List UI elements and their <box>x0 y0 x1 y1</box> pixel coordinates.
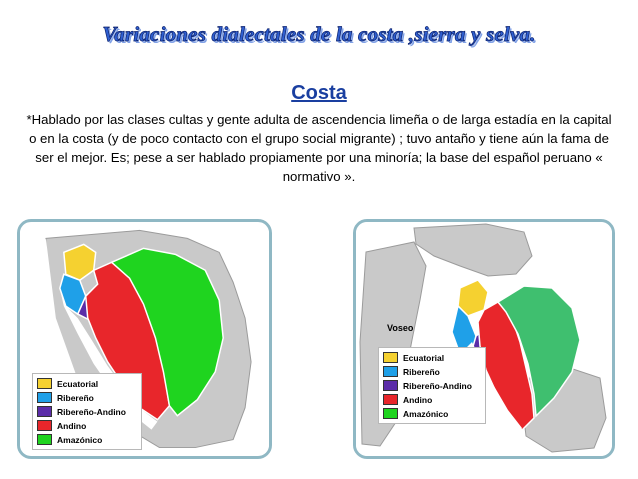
map-legend-right: Ecuatorial Ribereño Ribereño-Andino Andi… <box>378 347 486 424</box>
legend-label-ribereno-andino: Ribereño-Andino <box>57 407 126 417</box>
legend-swatch-ribereno-andino <box>383 380 398 391</box>
legend-item: Ecuatorial <box>37 377 136 390</box>
legend-swatch-ecuatorial <box>37 378 52 389</box>
legend-item: Amazónico <box>383 407 480 420</box>
map-panel-right: Voseo Ecuatorial Ribereño Ribereño-Andin… <box>353 219 615 459</box>
legend-swatch-ribereno-andino <box>37 406 52 417</box>
slide: Variaciones dialectales de la costa ,sie… <box>0 0 638 479</box>
legend-label-andino: Andino <box>57 421 86 431</box>
legend-swatch-ecuatorial <box>383 352 398 363</box>
legend-swatch-ribereno <box>383 366 398 377</box>
legend-item: Andino <box>383 393 480 406</box>
map-legend-left: Ecuatorial Ribereño Ribereño-Andino Andi… <box>32 373 142 450</box>
legend-item: Andino <box>37 419 136 432</box>
legend-swatch-ribereno <box>37 392 52 403</box>
legend-label-ribereno: Ribereño <box>403 367 440 377</box>
legend-item: Amazónico <box>37 433 136 446</box>
legend-label-voseo: Voseo <box>387 323 413 333</box>
legend-item: Ribereño-Andino <box>383 379 480 392</box>
legend-item: Ribereño <box>37 391 136 404</box>
legend-label-ecuatorial: Ecuatorial <box>403 353 444 363</box>
legend-swatch-amazonico <box>383 408 398 419</box>
legend-swatch-amazonico <box>37 434 52 445</box>
legend-label-andino: Andino <box>403 395 432 405</box>
legend-label-amazonico: Amazónico <box>57 435 102 445</box>
legend-swatch-voseo <box>370 322 382 334</box>
map-panel-left: Ecuatorial Ribereño Ribereño-Andino Andi… <box>17 219 272 459</box>
legend-item: Ribereño-Andino <box>37 405 136 418</box>
voseo-legend-row: Voseo <box>370 322 413 334</box>
legend-item: Ecuatorial <box>383 351 480 364</box>
legend-label-ecuatorial: Ecuatorial <box>57 379 98 389</box>
page-title: Variaciones dialectales de la costa ,sie… <box>0 22 638 47</box>
legend-item: Ribereño <box>383 365 480 378</box>
section-subtitle: Costa <box>0 82 638 105</box>
legend-label-ribereno-andino: Ribereño-Andino <box>403 381 472 391</box>
legend-label-amazonico: Amazónico <box>403 409 448 419</box>
legend-label-ribereno: Ribereño <box>57 393 94 403</box>
legend-swatch-andino <box>37 420 52 431</box>
body-paragraph: *Hablado por las clases cultas y gente a… <box>24 110 614 186</box>
legend-swatch-andino <box>383 394 398 405</box>
